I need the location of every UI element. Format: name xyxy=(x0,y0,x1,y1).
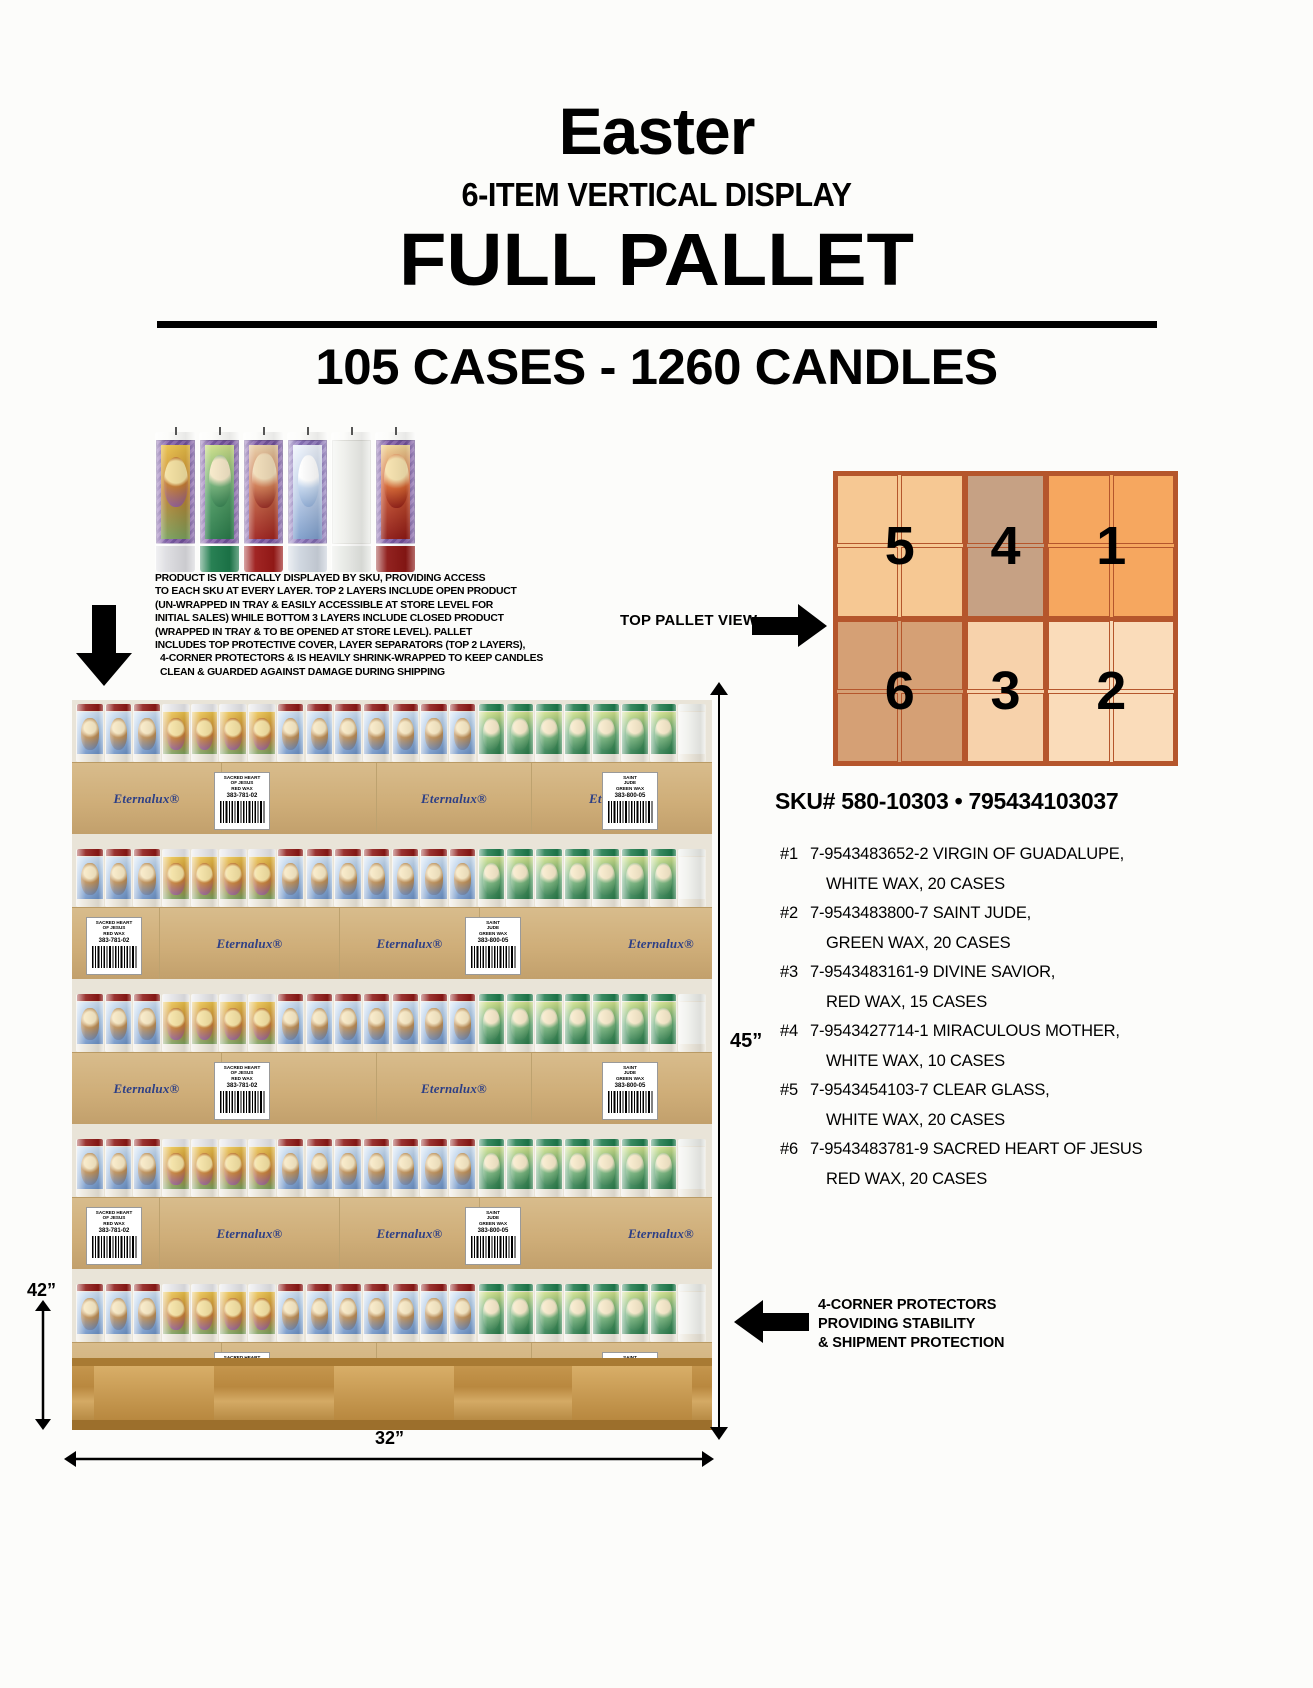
candle-glass xyxy=(306,704,334,762)
sku-desc: 7-9543454103-7 CLEAR GLASS, xyxy=(810,1081,1050,1099)
depth-dimension-line xyxy=(34,1300,52,1430)
height-dimension-line xyxy=(718,688,720,1433)
candle-sacred-heart-of-jesus xyxy=(306,1284,334,1342)
price-tag-sacred-heart: SACRED HEART OF JESUS RED WAX 383-781-02 xyxy=(214,1062,270,1120)
candle-glass xyxy=(420,1284,448,1342)
candle-saint-jude xyxy=(506,994,534,1052)
candle-glass xyxy=(650,1139,678,1197)
candle-clear-glass xyxy=(678,994,706,1052)
candle-glass xyxy=(678,994,706,1052)
candle-saint-jude xyxy=(621,994,649,1052)
pallet-quadrant-4: 4 xyxy=(967,475,1045,617)
pallet-photo: Eternalux® Eternalux® Eternalux® SACRED … xyxy=(72,700,712,1430)
tag-line3: GREEN WAX xyxy=(467,931,519,936)
tag-line3: RED WAX xyxy=(88,1221,140,1226)
page-title: Easter xyxy=(0,98,1313,164)
candle-saint-jude xyxy=(564,1284,592,1342)
candle-glass xyxy=(248,1284,276,1342)
tag-sku: 383-800-05 xyxy=(604,1082,656,1090)
width-dimension-label: 32” xyxy=(375,1428,404,1449)
brand-text: Eternalux® xyxy=(421,1081,487,1097)
candle-glass xyxy=(243,432,284,572)
tag-sku: 383-781-02 xyxy=(216,1082,268,1090)
candle-glass xyxy=(76,994,104,1052)
candle-glass xyxy=(191,704,219,762)
candle-virgin-of-guadalupe xyxy=(191,704,219,762)
candle-saint-jude xyxy=(506,1139,534,1197)
desc-line-6: INCLUDES TOP PROTECTIVE COVER, LAYER SEP… xyxy=(155,639,530,652)
tag-line3: GREEN WAX xyxy=(467,1221,519,1226)
candle-saint-jude xyxy=(535,1139,563,1197)
candle-glass xyxy=(621,1139,649,1197)
candle-glass xyxy=(392,849,420,907)
candle-clear-glass xyxy=(678,1284,706,1342)
candle-virgin-of-guadalupe xyxy=(162,1139,190,1197)
candle-sacred-heart-of-jesus xyxy=(420,1284,448,1342)
candle-glass xyxy=(564,994,592,1052)
candle-glass xyxy=(277,849,305,907)
pallet-quadrant-6: 6 xyxy=(837,621,963,763)
candle-glass xyxy=(564,1284,592,1342)
candle-glass xyxy=(277,994,305,1052)
candle-glass xyxy=(133,1139,161,1197)
desc-line-7: 4-CORNER PROTECTORS & IS HEAVILY SHRINK-… xyxy=(155,652,530,665)
candle-virgin-of-guadalupe xyxy=(219,1284,247,1342)
candle-glass xyxy=(248,1139,276,1197)
candle-glass xyxy=(363,1139,391,1197)
tray-segment: Eternalux® xyxy=(340,908,480,979)
candle-glass xyxy=(334,1139,362,1197)
candle-sacred-heart-of-jesus xyxy=(306,704,334,762)
candle-glass xyxy=(334,994,362,1052)
tray-segment: Eternalux® xyxy=(377,763,532,834)
candle-glass xyxy=(306,1284,334,1342)
candle-sacred-heart-of-jesus xyxy=(76,994,104,1052)
sku-wax-cases: RED WAX, 20 CASES xyxy=(780,1165,1210,1195)
tag-sku: 383-800-05 xyxy=(604,792,656,800)
candle-glass xyxy=(449,1284,477,1342)
sku-list: #17-9543483652-2 VIRGIN OF GUADALUPE, WH… xyxy=(780,840,1210,1194)
candle-virgin-of-guadalupe xyxy=(248,1139,276,1197)
candle-glass xyxy=(392,1284,420,1342)
candle-glass xyxy=(248,994,276,1052)
candle-glass xyxy=(306,1139,334,1197)
candle-saint-jude xyxy=(564,849,592,907)
candle-glass xyxy=(219,1284,247,1342)
candle-sacred-heart-of-jesus xyxy=(133,1284,161,1342)
candle-sacred-heart-of-jesus xyxy=(449,1139,477,1197)
candle-glass xyxy=(564,849,592,907)
header: Easter 6-ITEM VERTICAL DISPLAY FULL PALL… xyxy=(0,0,1313,392)
sku-number: #3 xyxy=(780,958,810,988)
sku-desc: 7-9543483800-7 SAINT JUDE, xyxy=(810,904,1031,922)
candle-clear-glass xyxy=(678,704,706,762)
layer-candle-row xyxy=(72,990,712,1052)
candle-glass xyxy=(219,994,247,1052)
candle-glass xyxy=(191,1284,219,1342)
candle-glass xyxy=(133,704,161,762)
candle-saint-jude xyxy=(650,704,678,762)
top-pallet-diagram: 5 4 1 6 3 xyxy=(833,471,1178,766)
sku-desc: 7-9543483652-2 VIRGIN OF GUADALUPE, xyxy=(810,845,1124,863)
candle-saint-jude xyxy=(592,1284,620,1342)
tag-sku: 383-781-02 xyxy=(88,937,140,945)
candle-glass xyxy=(478,1284,506,1342)
candle-sacred-heart-of-jesus xyxy=(76,1139,104,1197)
product-sell-sheet: Easter 6-ITEM VERTICAL DISPLAY FULL PALL… xyxy=(0,0,1313,1688)
candle-glass xyxy=(506,994,534,1052)
candle-glass xyxy=(105,994,133,1052)
candle-glass xyxy=(535,849,563,907)
candle-saint-jude xyxy=(535,994,563,1052)
candle-glass xyxy=(363,704,391,762)
candle-glass xyxy=(219,704,247,762)
candle-glass xyxy=(420,1139,448,1197)
corner-protector-callout: 4-CORNER PROTECTORS PROVIDING STABILITY … xyxy=(818,1296,1004,1353)
candle-clear-glass xyxy=(678,849,706,907)
candle-glass xyxy=(334,704,362,762)
pallet-quadrant-2: 2 xyxy=(1048,621,1174,763)
candle-sacred-heart-of-jesus xyxy=(392,1284,420,1342)
pallet-description: PRODUCT IS VERTICALLY DISPLAYED BY SKU, … xyxy=(155,572,530,679)
tag-line3: GREEN WAX xyxy=(604,786,656,791)
sku-item-3: #37-9543483161-9 DIVINE SAVIOR, RED WAX,… xyxy=(780,958,1210,1017)
sku-item-4: #47-9543427714-1 MIRACULOUS MOTHER, WHIT… xyxy=(780,1017,1210,1076)
pallet-position-number-4: 4 xyxy=(990,519,1020,573)
candle-glass xyxy=(449,994,477,1052)
candle-saint-jude xyxy=(592,704,620,762)
candle-glass xyxy=(506,704,534,762)
candle-glass xyxy=(478,849,506,907)
sku-desc: 7-9543483781-9 SACRED HEART OF JESUS xyxy=(810,1140,1142,1158)
candle-sacred-heart-of-jesus xyxy=(76,704,104,762)
candle-glass xyxy=(478,1139,506,1197)
layer-candle-row xyxy=(72,845,712,907)
candle-glass xyxy=(621,849,649,907)
candle-glass xyxy=(678,849,706,907)
price-tag-saint-jude: SAINT JUDE GREEN WAX 383-800-05 xyxy=(465,917,521,975)
candle-sacred-heart-of-jesus xyxy=(363,1139,391,1197)
candle-virgin-of-guadalupe xyxy=(219,1139,247,1197)
layer-tray: Eternalux® Eternalux® Eternalux® xyxy=(72,907,712,979)
candle-glass xyxy=(650,849,678,907)
candle-clear-glass xyxy=(678,1139,706,1197)
candle-virgin-of-guadalupe xyxy=(191,1139,219,1197)
candle-glass xyxy=(219,1139,247,1197)
candle-glass xyxy=(592,704,620,762)
candle-sacred-heart-of-jesus xyxy=(277,849,305,907)
desc-line-1: PRODUCT IS VERTICALLY DISPLAYED BY SKU, … xyxy=(155,572,530,585)
candle-sacred-heart-of-jesus xyxy=(334,994,362,1052)
tray-segment: Eternalux® xyxy=(377,1053,532,1124)
candle-sacred-heart-of-jesus xyxy=(76,849,104,907)
candle-glass xyxy=(219,849,247,907)
candle-saint-jude xyxy=(535,849,563,907)
candle-saint-jude xyxy=(621,704,649,762)
candle-sacred-heart-of-jesus xyxy=(306,1139,334,1197)
dim-arrow-bottom-icon xyxy=(710,1426,728,1440)
barcode-icon xyxy=(219,801,265,823)
candle-sacred-heart-of-jesus xyxy=(334,849,362,907)
candle-saint-jude xyxy=(592,994,620,1052)
header-display-type: FULL PALLET xyxy=(0,223,1313,297)
sku-wax-cases: WHITE WAX, 20 CASES xyxy=(780,870,1210,900)
candle-sacred-heart-of-jesus xyxy=(363,1284,391,1342)
pallet-quadrant-3: 3 xyxy=(967,621,1045,763)
header-divider xyxy=(157,321,1157,328)
price-tag-sacred-heart: SACRED HEART OF JESUS RED WAX 383-781-02 xyxy=(214,772,270,830)
tag-sku: 383-781-02 xyxy=(88,1227,140,1235)
candle-glass xyxy=(621,994,649,1052)
candle-glass xyxy=(363,849,391,907)
candle-sacred-heart-of-jesus xyxy=(449,1284,477,1342)
candle-glass xyxy=(191,1139,219,1197)
layer-candle-row xyxy=(72,700,712,762)
price-tag-sacred-heart: SACRED HEART OF JESUS RED WAX 383-781-02 xyxy=(86,1207,142,1265)
candle-glass xyxy=(678,1139,706,1197)
candle-glass xyxy=(105,1139,133,1197)
desc-line-5: (WRAPPED IN TRAY & TO BE OPENED AT STORE… xyxy=(155,626,530,639)
candle-glass xyxy=(420,994,448,1052)
sample-candle-saint-jude xyxy=(199,432,240,572)
candle-glass xyxy=(592,994,620,1052)
candle-saint-jude xyxy=(650,994,678,1052)
price-tag-saint-jude: SAINT JUDE GREEN WAX 383-800-05 xyxy=(602,1062,658,1120)
candle-saint-jude xyxy=(506,704,534,762)
candle-glass xyxy=(331,432,372,572)
candle-saint-jude xyxy=(478,994,506,1052)
candle-glass xyxy=(592,849,620,907)
candle-glass xyxy=(199,432,240,572)
candle-glass xyxy=(592,1284,620,1342)
barcode-icon xyxy=(219,1091,265,1113)
depth-dimension-label: 42” xyxy=(27,1280,56,1301)
candle-glass xyxy=(105,704,133,762)
candle-virgin-of-guadalupe xyxy=(162,994,190,1052)
brand-text: Eternalux® xyxy=(628,1226,694,1242)
candle-glass xyxy=(535,994,563,1052)
candle-sacred-heart-of-jesus xyxy=(105,994,133,1052)
sku-number: #1 xyxy=(780,840,810,870)
candle-glass xyxy=(449,1139,477,1197)
brand-text: Eternalux® xyxy=(114,791,180,807)
header-subtitle: 6-ITEM VERTICAL DISPLAY xyxy=(46,178,1267,211)
sample-candle-divine-savior xyxy=(243,432,284,572)
layer-candle-row xyxy=(72,1280,712,1342)
pallet-quadrant-5: 5 xyxy=(837,475,963,617)
candle-sacred-heart-of-jesus xyxy=(105,1284,133,1342)
candle-glass xyxy=(420,849,448,907)
price-tag-sacred-heart: SACRED HEART OF JESUS RED WAX 383-781-02 xyxy=(86,917,142,975)
candle-saint-jude xyxy=(478,849,506,907)
candle-sacred-heart-of-jesus xyxy=(392,994,420,1052)
candle-sacred-heart-of-jesus xyxy=(334,1139,362,1197)
candle-glass xyxy=(392,704,420,762)
candle-saint-jude xyxy=(564,1139,592,1197)
candle-glass xyxy=(248,704,276,762)
barcode-icon xyxy=(470,946,516,968)
candle-glass xyxy=(535,1284,563,1342)
sku-wax-cases: RED WAX, 15 CASES xyxy=(780,988,1210,1018)
candle-saint-jude xyxy=(506,1284,534,1342)
pallet-position-number-5: 5 xyxy=(885,519,915,573)
candle-saint-jude xyxy=(478,1139,506,1197)
candle-saint-jude xyxy=(592,1139,620,1197)
candle-glass xyxy=(105,849,133,907)
candle-virgin-of-guadalupe xyxy=(219,704,247,762)
candle-saint-jude xyxy=(564,704,592,762)
candle-sacred-heart-of-jesus xyxy=(363,994,391,1052)
candle-virgin-of-guadalupe xyxy=(191,994,219,1052)
callout-line-1: 4-CORNER PROTECTORS xyxy=(818,1296,1004,1315)
tray-segment: Eternalux® xyxy=(340,1198,480,1269)
sku-number: #6 xyxy=(780,1135,810,1165)
candle-glass xyxy=(650,704,678,762)
candle-sacred-heart-of-jesus xyxy=(105,1139,133,1197)
candle-virgin-of-guadalupe xyxy=(248,849,276,907)
sku-wax-cases: GREEN WAX, 20 CASES xyxy=(780,929,1210,959)
candle-sacred-heart-of-jesus xyxy=(277,994,305,1052)
candle-saint-jude xyxy=(650,1139,678,1197)
candle-glass xyxy=(650,994,678,1052)
callout-line-3: & SHIPMENT PROTECTION xyxy=(818,1334,1004,1353)
candle-saint-jude xyxy=(621,1139,649,1197)
desc-line-4: INITIAL SALES) WHILE BOTTOM 3 LAYERS INC… xyxy=(155,612,530,625)
candle-glass xyxy=(133,994,161,1052)
barcode-icon xyxy=(91,946,137,968)
candle-sacred-heart-of-jesus xyxy=(133,704,161,762)
candle-glass xyxy=(162,849,190,907)
candle-glass xyxy=(478,994,506,1052)
candle-glass xyxy=(248,849,276,907)
tag-line3: RED WAX xyxy=(88,931,140,936)
candle-glass xyxy=(76,704,104,762)
sku-wax-cases: WHITE WAX, 10 CASES xyxy=(780,1047,1210,1077)
candle-sacred-heart-of-jesus xyxy=(133,1139,161,1197)
desc-line-2: TO EACH SKU AT EVERY LAYER. TOP 2 LAYERS… xyxy=(155,585,530,598)
candle-glass xyxy=(650,1284,678,1342)
candle-glass xyxy=(334,1284,362,1342)
candle-sacred-heart-of-jesus xyxy=(277,1139,305,1197)
candle-glass xyxy=(76,1284,104,1342)
pallet-position-number-1: 1 xyxy=(1096,519,1126,573)
pallet-position-number-3: 3 xyxy=(990,664,1020,718)
brand-text: Eternalux® xyxy=(377,936,443,952)
candle-sacred-heart-of-jesus xyxy=(420,849,448,907)
candle-glass xyxy=(506,1284,534,1342)
candle-saint-jude xyxy=(592,849,620,907)
sku-number: #4 xyxy=(780,1017,810,1047)
tag-line3: RED WAX xyxy=(216,786,268,791)
candle-glass xyxy=(155,432,196,572)
candle-saint-jude xyxy=(650,1284,678,1342)
tray-segment: Eternalux® xyxy=(160,1198,340,1269)
candle-glass xyxy=(678,704,706,762)
candle-glass xyxy=(592,1139,620,1197)
candle-glass xyxy=(678,1284,706,1342)
candle-glass xyxy=(306,849,334,907)
candle-saint-jude xyxy=(621,1284,649,1342)
wooden-pallet-base xyxy=(72,1358,712,1430)
sample-candle-virgin-of-guadalupe xyxy=(155,432,196,572)
candle-glass xyxy=(363,994,391,1052)
candle-glass xyxy=(162,1139,190,1197)
candle-virgin-of-guadalupe xyxy=(191,1284,219,1342)
brand-text: Eternalux® xyxy=(217,936,283,952)
candle-glass xyxy=(449,704,477,762)
candle-glass xyxy=(363,1284,391,1342)
candle-glass xyxy=(133,849,161,907)
candle-sacred-heart-of-jesus xyxy=(420,1139,448,1197)
candle-sacred-heart-of-jesus xyxy=(363,849,391,907)
tag-sku: 383-781-02 xyxy=(216,792,268,800)
candle-saint-jude xyxy=(650,849,678,907)
candle-virgin-of-guadalupe xyxy=(162,704,190,762)
sku-title: SKU# 580-10303 • 795434103037 xyxy=(775,788,1118,815)
candle-glass xyxy=(306,994,334,1052)
tag-line3: GREEN WAX xyxy=(604,1076,656,1081)
sample-candle-miraculous-mother xyxy=(287,432,328,572)
left-arrow-icon xyxy=(733,1300,809,1344)
candle-glass xyxy=(535,704,563,762)
candle-sacred-heart-of-jesus xyxy=(449,704,477,762)
candle-virgin-of-guadalupe xyxy=(219,849,247,907)
candle-glass xyxy=(564,1139,592,1197)
barcode-icon xyxy=(607,801,653,823)
desc-line-3: (UN-WRAPPED IN TRAY & EASILY ACCESSIBLE … xyxy=(155,599,530,612)
tray-segment: Eternalux® xyxy=(72,763,222,834)
callout-line-2: PROVIDING STABILITY xyxy=(818,1315,1004,1334)
candle-glass xyxy=(506,1139,534,1197)
pallet-position-number-6: 6 xyxy=(885,664,915,718)
candle-sacred-heart-of-jesus xyxy=(334,1284,362,1342)
sku-item-5: #57-9543454103-7 CLEAR GLASS, WHITE WAX,… xyxy=(780,1076,1210,1135)
brand-text: Eternalux® xyxy=(217,1226,283,1242)
candle-glass xyxy=(76,1139,104,1197)
candle-sacred-heart-of-jesus xyxy=(420,994,448,1052)
sku-desc: 7-9543427714-1 MIRACULOUS MOTHER, xyxy=(810,1022,1120,1040)
desc-line-8: CLEAN & GUARDED AGAINST DAMAGE DURING SH… xyxy=(155,666,530,679)
candle-glass xyxy=(535,1139,563,1197)
candle-glass xyxy=(162,994,190,1052)
candle-saint-jude xyxy=(621,849,649,907)
candle-virgin-of-guadalupe xyxy=(248,994,276,1052)
candle-glass xyxy=(392,1139,420,1197)
candle-glass xyxy=(191,849,219,907)
candle-glass xyxy=(277,1284,305,1342)
price-tag-saint-jude: SAINT JUDE GREEN WAX 383-800-05 xyxy=(602,772,658,830)
down-arrow-icon xyxy=(75,605,133,687)
candle-glass xyxy=(287,432,328,572)
candle-sacred-heart-of-jesus xyxy=(133,994,161,1052)
candle-glass xyxy=(478,704,506,762)
candle-sacred-heart-of-jesus xyxy=(420,704,448,762)
candle-saint-jude xyxy=(506,849,534,907)
sku-item-2: #27-9543483800-7 SAINT JUDE, GREEN WAX, … xyxy=(780,899,1210,958)
sku-number: #2 xyxy=(780,899,810,929)
candle-sacred-heart-of-jesus xyxy=(392,704,420,762)
pallet-quadrant-1: 1 xyxy=(1048,475,1174,617)
right-arrow-icon xyxy=(752,604,828,648)
barcode-icon xyxy=(607,1091,653,1113)
candle-sacred-heart-of-jesus xyxy=(449,849,477,907)
candle-glass xyxy=(449,849,477,907)
candle-glass xyxy=(564,704,592,762)
tag-sku: 383-800-05 xyxy=(467,1227,519,1235)
candle-sacred-heart-of-jesus xyxy=(105,704,133,762)
layer-tray: Eternalux® Eternalux® Eternalux® xyxy=(72,1197,712,1269)
candle-glass xyxy=(133,1284,161,1342)
